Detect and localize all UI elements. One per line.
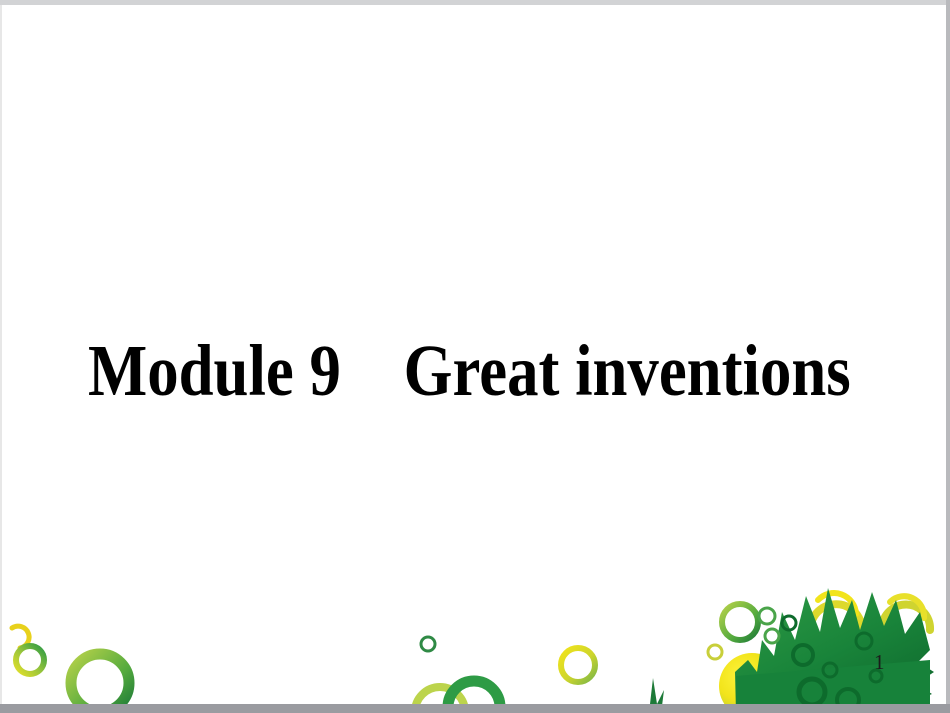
ring-arc-far-left <box>12 626 29 648</box>
slide-title: Module 9 Great inventions <box>88 332 742 410</box>
leaf-bubble-group <box>782 616 882 711</box>
ring-small-upper <box>759 608 775 624</box>
maple-leaf-shape <box>735 588 934 713</box>
right-chrome-bar <box>946 0 950 713</box>
left-chrome-bar <box>0 5 2 705</box>
ring-tiny-leafside <box>708 645 722 659</box>
bottom-chrome-bar <box>0 704 950 713</box>
small-green-sprout <box>648 678 664 706</box>
ring-mid-right <box>561 648 595 682</box>
top-chrome-bar <box>0 0 950 5</box>
page-number: 1 <box>874 652 885 673</box>
yellow-arc-group <box>810 593 930 640</box>
ring-small-left <box>16 646 44 674</box>
bubble-ring-group <box>12 604 779 713</box>
ring-med-leafside <box>722 604 758 640</box>
ring-tiny-mid <box>421 637 435 651</box>
ring-small-lower <box>765 629 779 643</box>
slide-canvas: Module 9 Great inventions 1 <box>0 0 950 713</box>
